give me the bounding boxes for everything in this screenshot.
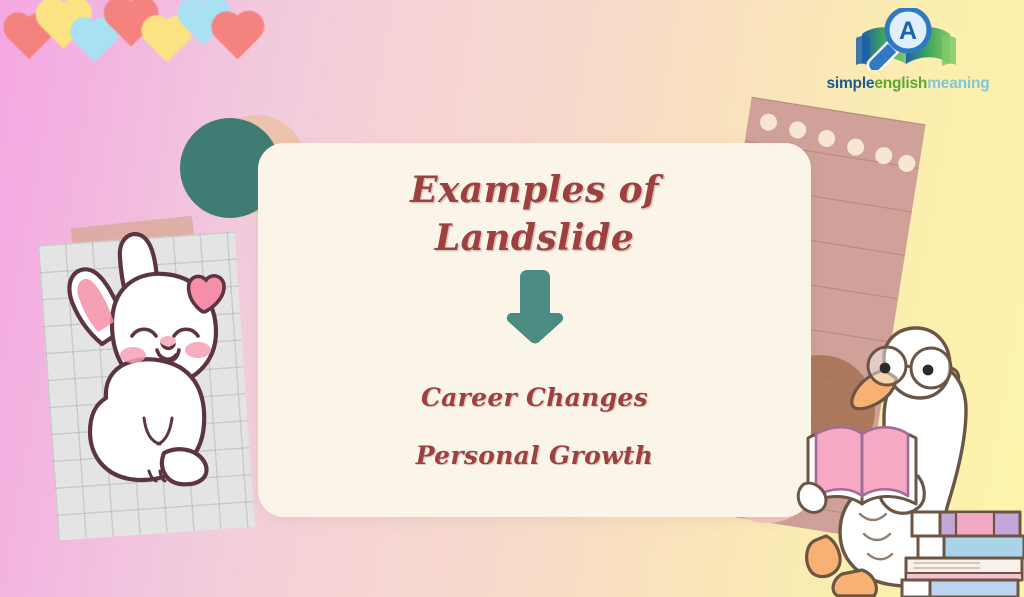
- page-title-line-2: Landslide: [258, 215, 811, 263]
- logo-word-meaning: meaning: [927, 75, 989, 92]
- down-arrow-icon: [506, 266, 564, 348]
- logo-wordmark: simpleenglishmeaning: [800, 75, 1016, 93]
- logo-letter: A: [899, 17, 917, 45]
- heart-3-icon: [74, 21, 115, 62]
- content-card: Examples of Landslide Career Changes Per…: [258, 143, 811, 517]
- book-magnifier-logo-icon: A: [800, 8, 1016, 70]
- punch-hole: [759, 113, 778, 132]
- heart-7-icon: [216, 16, 260, 60]
- page-title: Examples of Landslide: [258, 167, 811, 263]
- punch-hole: [788, 120, 807, 139]
- down-arrow: [258, 266, 811, 353]
- book-blue: [918, 536, 1024, 558]
- logo-word-english: english: [874, 75, 927, 92]
- hand-icon: [798, 483, 826, 512]
- punch-hole: [817, 129, 836, 148]
- example-item-1: Career Changes: [258, 383, 811, 412]
- goose-icon: [780, 318, 1024, 597]
- punch-hole: [846, 137, 865, 156]
- punch-hole: [874, 146, 893, 165]
- example-item-2: Personal Growth: [258, 441, 811, 470]
- page-title-line-1: Examples of: [258, 167, 811, 215]
- brand-logo[interactable]: A simpleenglishmeaning: [800, 8, 1016, 93]
- bunny-illustration: [46, 228, 261, 528]
- book-purple: [912, 512, 1020, 536]
- book-pink: [906, 558, 1022, 580]
- book-stack: [902, 512, 1024, 597]
- punch-hole: [897, 154, 916, 173]
- eye-icon: [923, 365, 934, 376]
- bunny-icon: [46, 228, 261, 528]
- goose-reading-illustration: [780, 318, 1024, 597]
- eye-icon: [880, 363, 891, 374]
- poster-canvas: Examples of Landslide Career Changes Per…: [0, 0, 1024, 597]
- heart-5-icon: [146, 20, 188, 62]
- logo-word-simple: simple: [826, 75, 874, 92]
- book-lightblue: [902, 580, 1018, 597]
